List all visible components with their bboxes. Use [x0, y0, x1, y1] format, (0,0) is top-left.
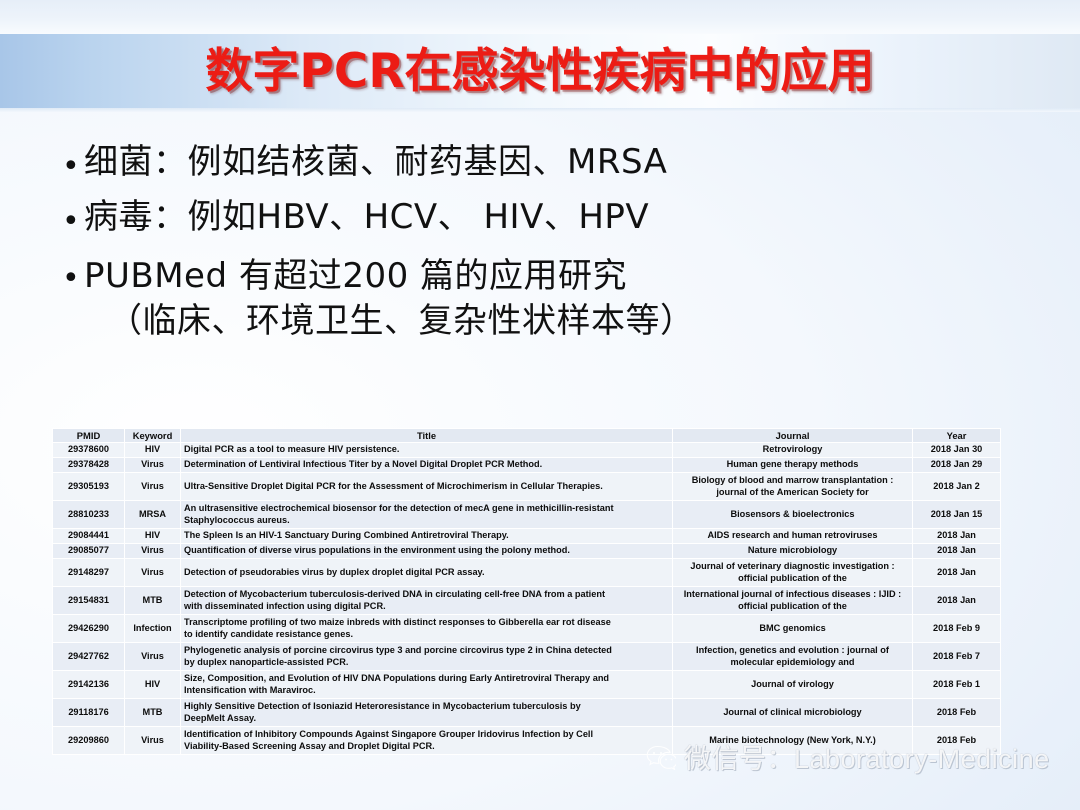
cell-keyword: Virus: [125, 473, 181, 501]
cell-keyword: MTB: [125, 587, 181, 615]
pubmed-results-table: PMID Keyword Title Journal Year 29378600…: [52, 428, 1000, 755]
cell-journal: Journal of veterinary diagnostic investi…: [673, 559, 913, 587]
cell-line: Size, Composition, and Evolution of HIV …: [184, 673, 669, 685]
table-row: 29154831MTBDetection of Mycobacterium tu…: [53, 587, 1001, 615]
table-row: 29378428VirusDetermination of Lentiviral…: [53, 458, 1001, 473]
cell-keyword: MRSA: [125, 501, 181, 529]
cell-line: Highly Sensitive Detection of Isoniazid …: [184, 701, 669, 713]
cell-year: 2018 Feb 7: [913, 643, 1001, 671]
cell-line: Ultra-Sensitive Droplet Digital PCR for …: [184, 481, 669, 493]
cell-journal: Human gene therapy methods: [673, 458, 913, 473]
column-header-journal: Journal: [673, 429, 913, 443]
cell-line: Marine biotechnology (New York, N.Y.): [676, 735, 909, 747]
cell-line: Staphylococcus aureus.: [184, 515, 669, 527]
bullet-list: • 细菌：例如结核菌、耐药基因、MRSA • 病毒：例如HBV、HCV、 HIV…: [62, 140, 1022, 344]
cell-year: 2018 Jan: [913, 559, 1001, 587]
cell-journal: BMC genomics: [673, 615, 913, 643]
cell-title: Ultra-Sensitive Droplet Digital PCR for …: [181, 473, 673, 501]
cell-line: by duplex nanoparticle-assisted PCR.: [184, 657, 669, 669]
cell-line: Retrovirology: [676, 444, 909, 456]
list-item: • 病毒：例如HBV、HCV、 HIV、HPV: [62, 195, 1022, 240]
cell-pmid: 29209860: [53, 727, 125, 755]
cell-journal: AIDS research and human retroviruses: [673, 529, 913, 544]
cell-keyword: Virus: [125, 458, 181, 473]
bullet-line: （临床、环境卫生、复杂性状样本等）: [84, 299, 1022, 344]
table: PMID Keyword Title Journal Year 29378600…: [52, 428, 1001, 755]
cell-line: with disseminated infection using digita…: [184, 601, 669, 613]
cell-title: The Spleen Is an HIV-1 Sanctuary During …: [181, 529, 673, 544]
cell-line: BMC genomics: [676, 623, 909, 635]
cell-title: Detection of pseudorabies virus by duple…: [181, 559, 673, 587]
column-header-keyword: Keyword: [125, 429, 181, 443]
table-row: 29142136HIVSize, Composition, and Evolut…: [53, 671, 1001, 699]
bullet-line: PUBMed 有超过200 篇的应用研究: [84, 254, 1022, 299]
cell-line: Infection, genetics and evolution : jour…: [676, 645, 909, 657]
bullet-marker-icon: •: [62, 254, 84, 294]
cell-journal: Biology of blood and marrow transplantat…: [673, 473, 913, 501]
cell-year: 2018 Feb: [913, 727, 1001, 755]
cell-line: molecular epidemiology and: [676, 657, 909, 669]
cell-line: Intensification with Maraviroc.: [184, 685, 669, 697]
cell-title: An ultrasensitive electrochemical biosen…: [181, 501, 673, 529]
cell-year: 2018 Feb 1: [913, 671, 1001, 699]
cell-line: official publication of the: [676, 601, 909, 613]
cell-line: Transcriptome profiling of two maize inb…: [184, 617, 669, 629]
cell-year: 2018 Jan 2: [913, 473, 1001, 501]
cell-pmid: 29142136: [53, 671, 125, 699]
cell-line: official publication of the: [676, 573, 909, 585]
cell-pmid: 29085077: [53, 544, 125, 559]
table-row: 29426290InfectionTranscriptome profiling…: [53, 615, 1001, 643]
cell-pmid: 29154831: [53, 587, 125, 615]
cell-pmid: 29084441: [53, 529, 125, 544]
cell-line: An ultrasensitive electrochemical biosen…: [184, 503, 669, 515]
bullet-body: PUBMed 有超过200 篇的应用研究 （临床、环境卫生、复杂性状样本等）: [84, 254, 1022, 344]
cell-line: The Spleen Is an HIV-1 Sanctuary During …: [184, 530, 669, 542]
cell-line: Biology of blood and marrow transplantat…: [676, 475, 909, 487]
cell-journal: Marine biotechnology (New York, N.Y.): [673, 727, 913, 755]
cell-year: 2018 Jan: [913, 587, 1001, 615]
cell-year: 2018 Feb: [913, 699, 1001, 727]
table-row: 29209860VirusIdentification of Inhibitor…: [53, 727, 1001, 755]
cell-line: Identification of Inhibitory Compounds A…: [184, 729, 669, 741]
cell-title: Determination of Lentiviral Infectious T…: [181, 458, 673, 473]
slide-canvas: 数字PCR在感染性疾病中的应用 • 细菌：例如结核菌、耐药基因、MRSA • 病…: [0, 0, 1080, 810]
cell-year: 2018 Jan: [913, 544, 1001, 559]
table-row: 29148297VirusDetection of pseudorabies v…: [53, 559, 1001, 587]
cell-title: Highly Sensitive Detection of Isoniazid …: [181, 699, 673, 727]
cell-pmid: 29148297: [53, 559, 125, 587]
bullet-body: 细菌：例如结核菌、耐药基因、MRSA: [84, 140, 1022, 185]
table-row: 28810233MRSAAn ultrasensitive electroche…: [53, 501, 1001, 529]
title-underline: [0, 108, 1080, 112]
cell-line: Journal of clinical microbiology: [676, 707, 909, 719]
bullet-line: 病毒：例如HBV、HCV、 HIV、HPV: [84, 195, 1022, 240]
cell-journal: Journal of clinical microbiology: [673, 699, 913, 727]
cell-pmid: 29378600: [53, 443, 125, 458]
cell-journal: Retrovirology: [673, 443, 913, 458]
cell-journal: Biosensors & bioelectronics: [673, 501, 913, 529]
cell-line: Journal of virology: [676, 679, 909, 691]
cell-keyword: Virus: [125, 559, 181, 587]
cell-line: journal of the American Society for: [676, 487, 909, 499]
bullet-line: 细菌：例如结核菌、耐药基因、MRSA: [84, 140, 1022, 185]
cell-title: Phylogenetic analysis of porcine circovi…: [181, 643, 673, 671]
title-band: 数字PCR在感染性疾病中的应用: [0, 34, 1080, 108]
cell-keyword: Virus: [125, 643, 181, 671]
bullet-marker-icon: •: [62, 195, 84, 237]
cell-line: International journal of infectious dise…: [676, 589, 909, 601]
page-title: 数字PCR在感染性疾病中的应用: [205, 48, 874, 95]
column-header-year: Year: [913, 429, 1001, 443]
cell-pmid: 29378428: [53, 458, 125, 473]
cell-line: Viability-Based Screening Assay and Drop…: [184, 741, 669, 753]
cell-journal: Nature microbiology: [673, 544, 913, 559]
table-row: 29085077VirusQuantification of diverse v…: [53, 544, 1001, 559]
cell-pmid: 29118176: [53, 699, 125, 727]
cell-title: Size, Composition, and Evolution of HIV …: [181, 671, 673, 699]
cell-line: Detection of pseudorabies virus by duple…: [184, 567, 669, 579]
cell-line: Detection of Mycobacterium tuberculosis-…: [184, 589, 669, 601]
cell-title: Digital PCR as a tool to measure HIV per…: [181, 443, 673, 458]
cell-title: Quantification of diverse virus populati…: [181, 544, 673, 559]
bullet-body: 病毒：例如HBV、HCV、 HIV、HPV: [84, 195, 1022, 240]
column-header-pmid: PMID: [53, 429, 125, 443]
table-header: PMID Keyword Title Journal Year: [53, 429, 1001, 443]
table-body: 29378600HIVDigital PCR as a tool to meas…: [53, 443, 1001, 755]
cell-line: Biosensors & bioelectronics: [676, 509, 909, 521]
cell-year: 2018 Jan: [913, 529, 1001, 544]
cell-year: 2018 Jan 15: [913, 501, 1001, 529]
cell-title: Transcriptome profiling of two maize inb…: [181, 615, 673, 643]
table-row: 29305193VirusUltra-Sensitive Droplet Dig…: [53, 473, 1001, 501]
cell-journal: International journal of infectious dise…: [673, 587, 913, 615]
cell-keyword: Virus: [125, 544, 181, 559]
cell-line: Phylogenetic analysis of porcine circovi…: [184, 645, 669, 657]
cell-keyword: Infection: [125, 615, 181, 643]
cell-line: Digital PCR as a tool to measure HIV per…: [184, 444, 669, 456]
cell-line: Nature microbiology: [676, 545, 909, 557]
bullet-marker-icon: •: [62, 140, 84, 182]
cell-line: AIDS research and human retroviruses: [676, 530, 909, 542]
cell-line: DeepMelt Assay.: [184, 713, 669, 725]
cell-line: Determination of Lentiviral Infectious T…: [184, 459, 669, 471]
cell-line: Quantification of diverse virus populati…: [184, 545, 669, 557]
cell-keyword: HIV: [125, 529, 181, 544]
table-header-row: PMID Keyword Title Journal Year: [53, 429, 1001, 443]
cell-journal: Infection, genetics and evolution : jour…: [673, 643, 913, 671]
cell-pmid: 28810233: [53, 501, 125, 529]
cell-title: Detection of Mycobacterium tuberculosis-…: [181, 587, 673, 615]
top-strip: [0, 0, 1080, 34]
cell-pmid: 29426290: [53, 615, 125, 643]
cell-keyword: Virus: [125, 727, 181, 755]
list-item: • 细菌：例如结核菌、耐药基因、MRSA: [62, 140, 1022, 185]
cell-keyword: HIV: [125, 671, 181, 699]
table-row: 29084441HIVThe Spleen Is an HIV-1 Sanctu…: [53, 529, 1001, 544]
cell-keyword: HIV: [125, 443, 181, 458]
cell-line: Journal of veterinary diagnostic investi…: [676, 561, 909, 573]
table-row: 29427762VirusPhylogenetic analysis of po…: [53, 643, 1001, 671]
list-item: • PUBMed 有超过200 篇的应用研究 （临床、环境卫生、复杂性状样本等）: [62, 254, 1022, 344]
cell-line: Human gene therapy methods: [676, 459, 909, 471]
cell-year: 2018 Jan 30: [913, 443, 1001, 458]
cell-pmid: 29305193: [53, 473, 125, 501]
cell-year: 2018 Jan 29: [913, 458, 1001, 473]
cell-pmid: 29427762: [53, 643, 125, 671]
cell-year: 2018 Feb 9: [913, 615, 1001, 643]
cell-keyword: MTB: [125, 699, 181, 727]
cell-title: Identification of Inhibitory Compounds A…: [181, 727, 673, 755]
table-row: 29378600HIVDigital PCR as a tool to meas…: [53, 443, 1001, 458]
table-row: 29118176MTBHighly Sensitive Detection of…: [53, 699, 1001, 727]
column-header-title: Title: [181, 429, 673, 443]
cell-line: to identify candidate resistance genes.: [184, 629, 669, 641]
cell-journal: Journal of virology: [673, 671, 913, 699]
